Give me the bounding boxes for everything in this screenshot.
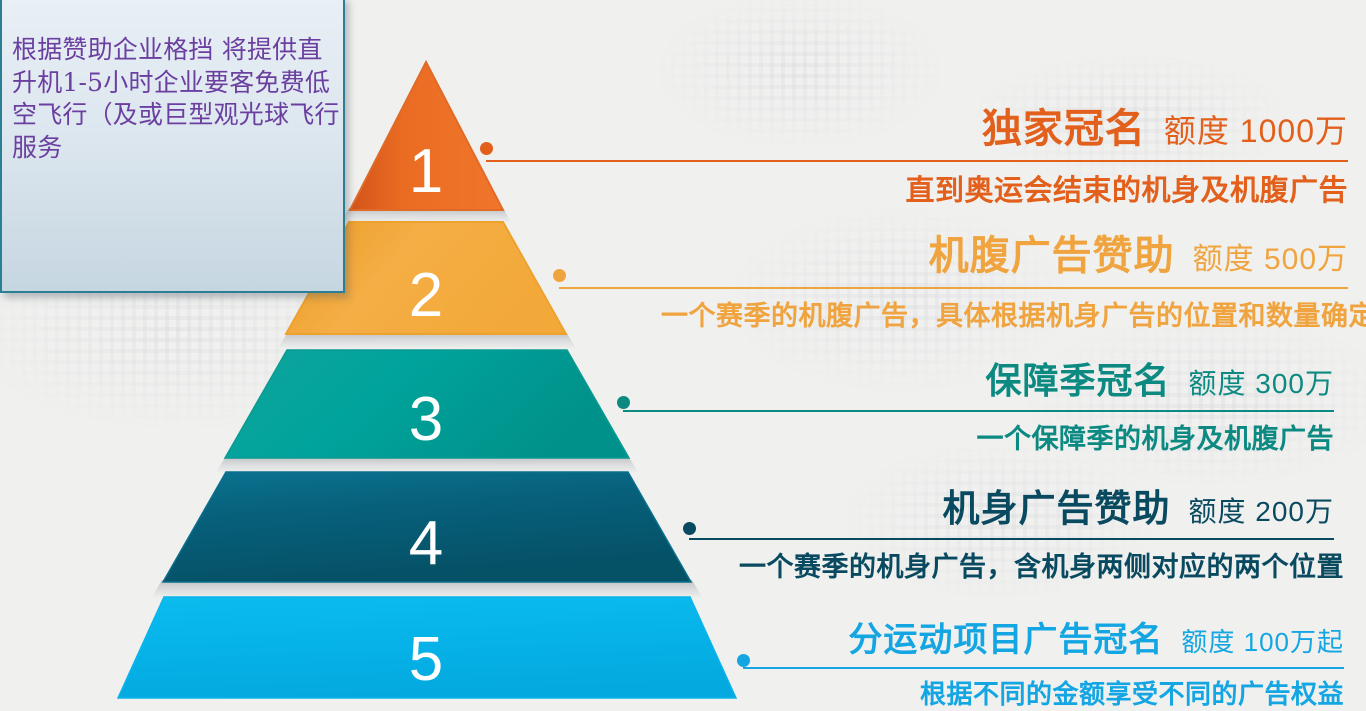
- level-1-connector-dot: [480, 142, 493, 155]
- level-3-subtitle: 一个保障季的机身及机腹广告: [623, 417, 1334, 456]
- level-1-label-block: 独家冠名 额度 1000万 直到奥运会结束的机身及机腹广告: [486, 96, 1348, 209]
- level-3-connector-dot: [617, 396, 630, 409]
- level-4-title-row: 机身广告赞助 额度 200万: [689, 478, 1334, 532]
- level-1-title-row: 独家冠名 额度 1000万: [486, 96, 1348, 154]
- pyramid-number-2: 2: [409, 261, 443, 330]
- level-3-title-row: 保障季冠名 额度 300万: [623, 352, 1334, 404]
- pyramid-number-1: 1: [409, 137, 443, 206]
- level-5-label-block: 分运动项目广告冠名 额度 100万起 根据不同的金额享受不同的广告权益: [743, 612, 1344, 711]
- level-1-title: 独家冠名: [982, 96, 1146, 154]
- level-3-title: 保障季冠名: [985, 352, 1170, 404]
- level-2-amount: 额度 500万: [1193, 234, 1348, 278]
- pyramid-number-5: 5: [409, 625, 443, 694]
- level-1-amount: 额度 1000万: [1164, 106, 1348, 152]
- level-5-title: 分运动项目广告冠名: [848, 612, 1163, 661]
- level-2-connector-dot: [553, 269, 566, 282]
- level-5-title-row: 分运动项目广告冠名 额度 100万起: [743, 612, 1344, 661]
- level-4-subtitle: 一个赛季的机身广告，含机身两侧对应的两个位置: [689, 545, 1344, 584]
- level-4-label-block: 机身广告赞助 额度 200万 一个赛季的机身广告，含机身两侧对应的两个位置: [689, 478, 1334, 584]
- level-3-label-block: 保障季冠名 额度 300万 一个保障季的机身及机腹广告: [623, 352, 1334, 456]
- level-2-subtitle: 一个赛季的机腹广告，具体根据机身广告的位置和数量确定: [559, 294, 1366, 333]
- level-3-amount: 额度 300万: [1189, 362, 1335, 402]
- level-5-subtitle: 根据不同的金额享受不同的广告权益: [743, 674, 1344, 711]
- pyramid-number-3: 3: [409, 385, 443, 454]
- note-box: 根据赞助企业格挡 将提供直升机1-5小时企业要客免费低空飞行（及或巨型观光球飞行…: [0, 0, 345, 293]
- level-2-label-block: 机腹广告赞助 额度 500万 一个赛季的机腹广告，具体根据机身广告的位置和数量确…: [559, 223, 1348, 333]
- level-4-amount: 额度 200万: [1189, 490, 1335, 530]
- pyramid-number-4: 4: [409, 509, 443, 578]
- level-1-rule: [486, 160, 1348, 162]
- level-5-rule: [743, 667, 1344, 669]
- level-1-subtitle: 直到奥运会结束的机身及机腹广告: [486, 167, 1348, 209]
- level-5-amount: 额度 100万起: [1181, 622, 1344, 659]
- level-2-title: 机腹广告赞助: [929, 223, 1175, 281]
- level-2-title-row: 机腹广告赞助 额度 500万: [559, 223, 1348, 281]
- level-4-title: 机身广告赞助: [943, 478, 1171, 532]
- level-5-connector-dot: [737, 654, 750, 667]
- level-2-rule: [559, 287, 1348, 289]
- level-3-rule: [623, 410, 1334, 412]
- level-4-rule: [689, 538, 1334, 540]
- level-4-connector-dot: [683, 522, 696, 535]
- note-text: 根据赞助企业格挡 将提供直升机1-5小时企业要客免费低空飞行（及或巨型观光球飞行…: [12, 34, 340, 164]
